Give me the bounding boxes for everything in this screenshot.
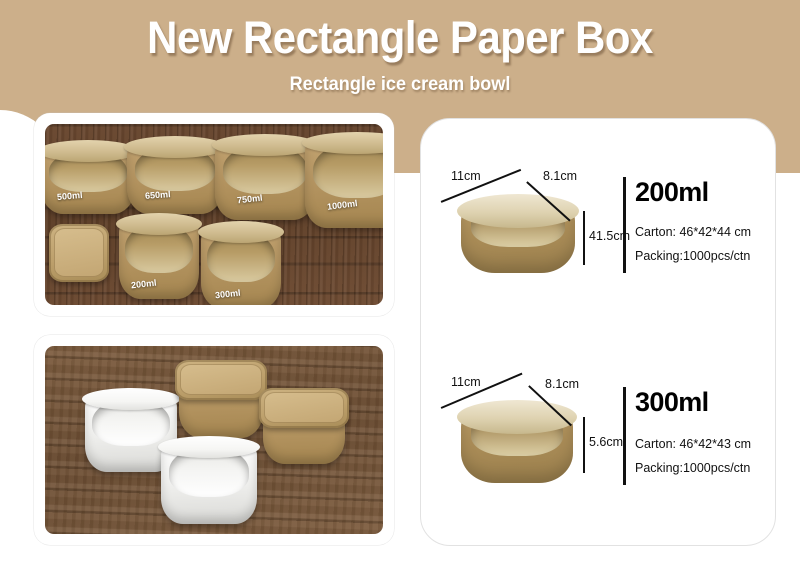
dimension-label-depth: 8.1cm: [543, 169, 577, 183]
photo-frame: [45, 346, 383, 534]
dimension-label-depth: 8.1cm: [545, 377, 579, 391]
kraft-bowl-closed-back: [179, 372, 263, 438]
dimension-line-height: [583, 417, 585, 473]
bowl-rim: [198, 221, 284, 243]
page-title: New Rectangle Paper Box: [28, 12, 772, 64]
spec-divider-rule: [623, 387, 626, 485]
carton-info-200ml: Carton: 46*42*44 cm: [635, 225, 751, 239]
carton-info-300ml: Carton: 46*42*43 cm: [635, 437, 751, 451]
bowl-500ml: 500ml: [45, 146, 135, 214]
bowl-illustration-300ml: [461, 409, 573, 483]
bowl-rim: [116, 213, 202, 235]
kraft-lid-on-bowl: [175, 360, 267, 400]
lid-top-face: [180, 364, 262, 395]
bowl-1000ml: 1000ml: [305, 138, 383, 228]
dimension-line-height: [583, 211, 585, 265]
spec-figure-300ml: 11cm 8.1cm 5.6cm: [437, 373, 617, 493]
bowl-rim: [124, 136, 226, 158]
bowl-label-650ml: 650ml: [145, 189, 171, 201]
photo-frame: 500ml 650ml 750ml 1000ml 200m: [45, 124, 383, 305]
lid-top-face: [264, 392, 344, 423]
kraft-bowl-closed-right: [263, 400, 345, 464]
volume-title-200ml: 200ml: [635, 177, 709, 208]
kraft-lid: [49, 224, 109, 282]
specifications-panel: 11cm 8.1cm 41.5cm 200ml Carton: 46*42*44…: [420, 118, 776, 546]
lid-top-face: [54, 228, 104, 277]
page-subtitle: Rectangle ice cream bowl: [20, 74, 780, 96]
white-bowl-front: [161, 442, 257, 524]
dimension-label-width: 11cm: [451, 169, 481, 183]
bowl-rim: [158, 436, 260, 458]
spec-block-300ml: 11cm 8.1cm 5.6cm 300ml Carton: 46*42*43 …: [421, 333, 777, 547]
bowl-rim: [82, 388, 180, 410]
bowl-750ml: 750ml: [215, 140, 315, 220]
spec-divider-rule: [623, 177, 626, 273]
packing-info-200ml: Packing:1000pcs/ctn: [635, 249, 750, 263]
bowl-300ml: 300ml: [201, 227, 281, 305]
dimension-label-height: 5.6cm: [589, 435, 623, 449]
bowl-650ml: 650ml: [127, 142, 223, 214]
spec-block-200ml: 11cm 8.1cm 41.5cm 200ml Carton: 46*42*44…: [421, 119, 777, 333]
dimension-label-width: 11cm: [451, 375, 481, 389]
volume-title-300ml: 300ml: [635, 387, 709, 418]
bowl-rim: [457, 400, 577, 434]
kraft-bowls-size-range-photo-card: 500ml 650ml 750ml 1000ml 200m: [34, 113, 394, 316]
bowl-200ml: 200ml: [119, 219, 199, 299]
spec-figure-200ml: 11cm 8.1cm 41.5cm: [437, 165, 617, 285]
kraft-lid-on-bowl: [259, 388, 349, 428]
bowl-illustration-200ml: [461, 203, 575, 273]
bowls-with-lids-photo-card: [34, 335, 394, 545]
packing-info-300ml: Packing:1000pcs/ctn: [635, 461, 750, 475]
